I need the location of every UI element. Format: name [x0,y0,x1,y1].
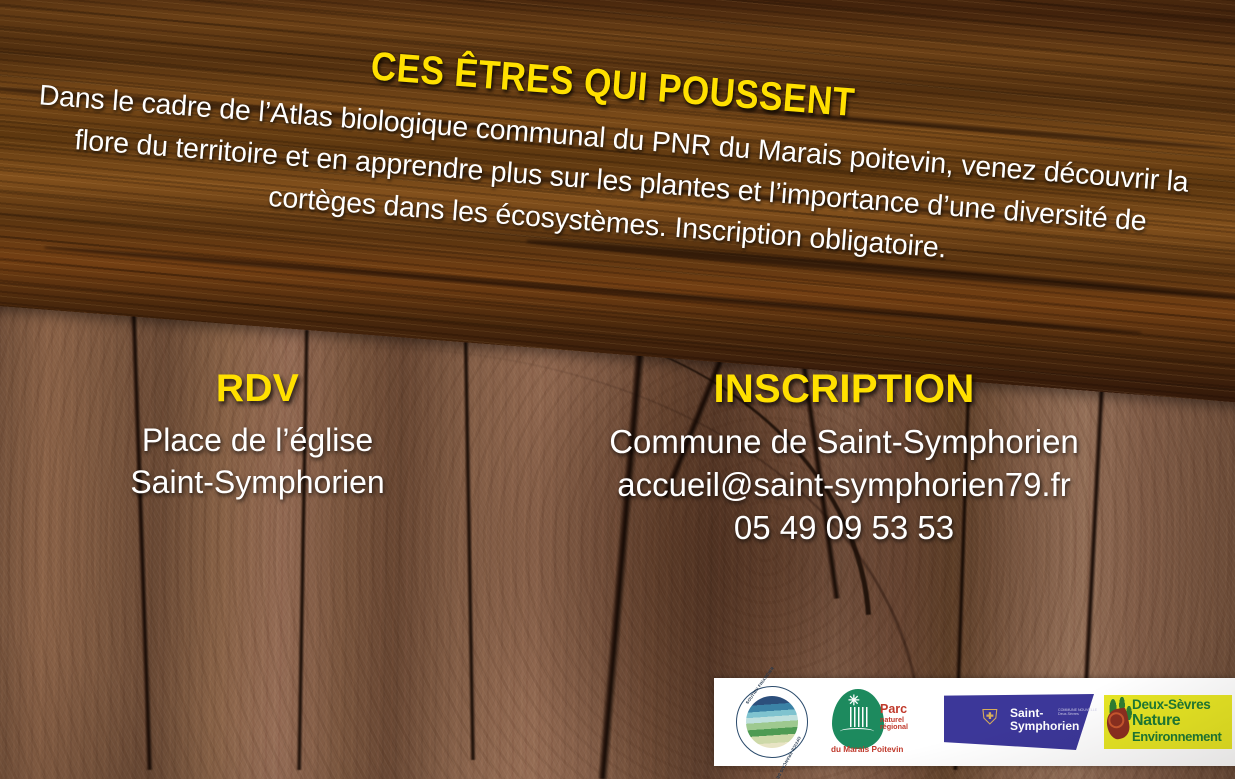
partner-logo-bar: SOUTIEN FINANCIER OFFICE FRANÇAIS DE LA … [714,678,1235,766]
ofb-arc-text: SOUTIEN FINANCIER OFFICE FRANÇAIS DE LA … [737,687,807,757]
rdv-line-1: Place de l’église [0,420,515,462]
inscription-phone[interactable]: 05 49 09 53 53 [515,507,1173,550]
saint-symphorien-subtitle: COMMUNE NOUVELLE Deux-Sèvres [1058,708,1097,717]
saint-symphorien-logo: ⛨ Saint- Symphorien COMMUNE NOUVELLE Deu… [940,683,1098,761]
pnr-star-icon: ✳ [848,693,860,707]
inscription-email[interactable]: accueil@saint-symphorien79.fr [515,464,1173,507]
inscription-heading: INSCRIPTION [515,368,1173,411]
inscription-organisation: Commune de Saint-Symphorien [515,421,1173,464]
dsne-logo: Deux-Sèvres Nature Environnement [1102,683,1234,761]
dsne-word-1: Deux-Sèvres [1132,698,1230,712]
rdv-heading: RDV [0,368,515,410]
dsne-wordmark: Deux-Sèvres Nature Environnement [1132,698,1230,743]
dsne-word-3: Environnement [1132,730,1230,743]
block-inscription: INSCRIPTION Commune de Saint-Symphorien … [515,368,1235,598]
ofb-logo: SOUTIEN FINANCIER OFFICE FRANÇAIS DE LA … [724,683,820,761]
pnr-rays-icon [850,707,870,727]
crest-icon: ⛨ [982,707,1006,732]
poster-canvas: CES ÊTRES QUI POUSSENT Dans le cadre de … [0,0,1235,779]
ss-line-2: Symphorien [1010,720,1079,733]
pnr-line-3: régional [880,723,908,730]
rdv-line-2: Saint-Symphorien [0,462,515,504]
block-rdv: RDV Place de l’église Saint-Symphorien [0,368,515,598]
pnr-marais-poitevin-logo: ✳ Parc naturel régional du Marais Poitev… [824,683,936,761]
ss-sub-2: Deux-Sèvres [1058,712,1097,716]
ofb-ring: SOUTIEN FINANCIER OFFICE FRANÇAIS DE LA … [736,686,808,758]
info-blocks: RDV Place de l’église Saint-Symphorien I… [0,368,1235,598]
pnr-line-1: Parc [880,703,908,716]
pnr-line-4: du Marais Poitevin [831,745,903,754]
spacer [515,411,1173,421]
pnr-wave-icon [840,728,874,735]
pnr-wordmark: Parc naturel régional [880,703,908,730]
dsne-word-2: Nature [1132,713,1230,729]
spacer [0,410,515,420]
